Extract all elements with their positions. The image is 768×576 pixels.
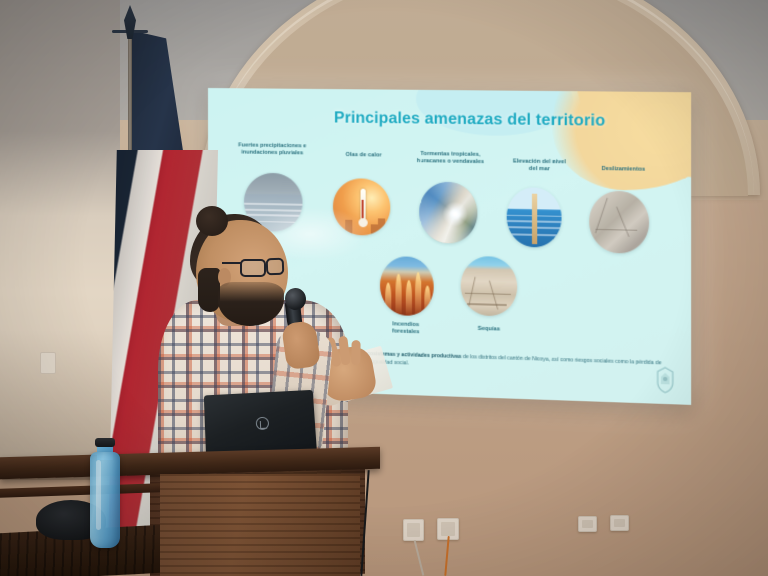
eyeglasses-lens-right	[266, 258, 285, 276]
threat-label-deslizamientos: Deslizamientos	[587, 166, 660, 175]
eyeglasses-temple-arm	[222, 262, 242, 264]
data-port-a[interactable]	[578, 516, 597, 532]
conference-room-photo: Principales amenazas del territorio Fuer…	[0, 0, 768, 576]
data-port-b-face	[614, 519, 625, 527]
dell-logo	[255, 417, 269, 431]
slide-yellow-blob	[552, 88, 691, 192]
slide-title: Principales amenazas del territorio	[334, 109, 648, 131]
threat-label-fuertes-precipitaciones: Fuertes precipitaciones einundaciones pl…	[228, 142, 317, 158]
light-switch[interactable]	[40, 352, 56, 374]
data-port-a-face	[582, 520, 593, 528]
threat-label-tormentas-tropicales: Tormentas tropicales,huracanes o vendava…	[407, 151, 494, 167]
drought-icon	[461, 256, 518, 317]
power-outlet-left[interactable]	[403, 519, 424, 541]
lectern-front-panel	[160, 474, 360, 576]
presenter-sideburn	[198, 268, 220, 312]
threat-label-olas-de-calor: Olas de calor	[331, 152, 397, 160]
water-bottle-cap	[95, 438, 115, 447]
landslide-icon	[589, 191, 649, 254]
presenter-hair-bun	[196, 206, 228, 236]
municipal-coat-of-arms-logo	[654, 366, 676, 394]
hurricane-icon	[419, 182, 477, 244]
blue-water-bottle	[90, 452, 120, 548]
bottle-highlight	[96, 460, 101, 530]
data-port-b[interactable]	[610, 515, 629, 531]
wildfire-icon	[380, 256, 434, 316]
slide-body-line1-post: de los distritos del cantón de	[461, 354, 530, 362]
threat-label-elevacion-nivel-mar: Elevación del niveldel mar	[503, 158, 577, 174]
eyeglasses-lens-left	[240, 259, 266, 277]
left-wall	[0, 0, 120, 470]
threat-label-incendios-forestales: Incendiosforestales	[376, 321, 436, 338]
power-outlet-left-face	[407, 523, 420, 537]
sea-level-icon	[507, 187, 562, 248]
lectern-front-grain	[160, 474, 360, 576]
power-outlet-right-face	[441, 522, 455, 536]
threat-label-sequias: Sequías	[463, 325, 515, 334]
